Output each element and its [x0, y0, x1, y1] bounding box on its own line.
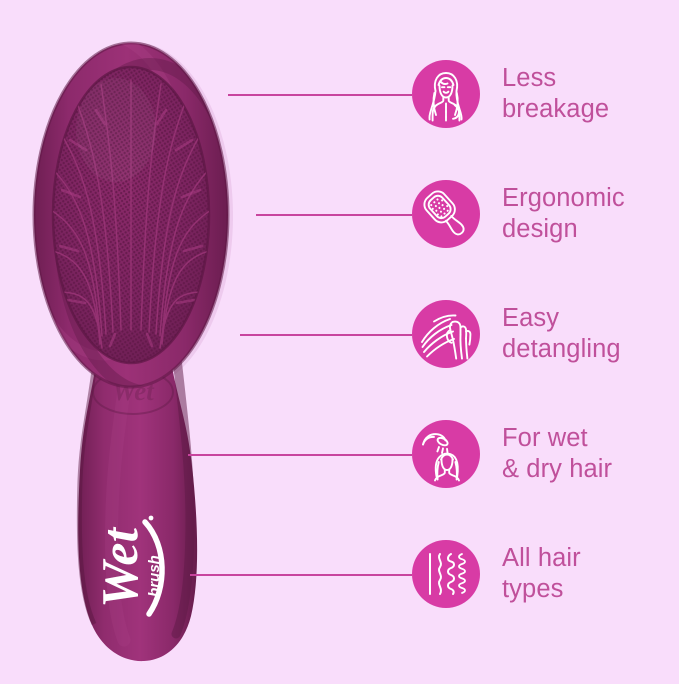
product-image-hair-brush: Wet: [0, 0, 260, 679]
paddle-brush-icon: [412, 180, 480, 248]
shower-head-girl-icon: [412, 420, 480, 488]
connector-line-less-breakage: [228, 94, 412, 96]
feature-label-less-breakage: Less breakage: [502, 63, 609, 125]
brand-registered-mark: [149, 516, 154, 521]
hair-texture-strands-icon: [412, 540, 480, 608]
infographic-canvas: Wet: [0, 0, 679, 679]
connector-line-easy-detangling: [240, 334, 412, 336]
feature-label-for-wet-and-dry-hair: For wet & dry hair: [502, 423, 612, 485]
connector-line-ergonomic-design: [256, 214, 412, 216]
feature-label-easy-detangling: Easy detangling: [502, 303, 621, 365]
girl-long-hair-icon: [412, 60, 480, 128]
feature-ergonomic-design[interactable]: Ergonomic design: [412, 180, 625, 248]
feature-icon-badge-ergonomic-design: [412, 180, 480, 248]
feature-label-ergonomic-design: Ergonomic design: [502, 183, 625, 245]
feature-label-all-hair-types: All hair types: [502, 543, 581, 605]
brush-illustration: Wet: [0, 0, 260, 679]
brand-logo-subtext: brush: [146, 555, 163, 597]
feature-easy-detangling[interactable]: Easy detangling: [412, 300, 621, 368]
feature-less-breakage[interactable]: Less breakage: [412, 60, 609, 128]
feature-for-wet-and-dry-hair[interactable]: For wet & dry hair: [412, 420, 612, 488]
feature-all-hair-types[interactable]: All hair types: [412, 540, 581, 608]
hand-hair-strands-icon: [412, 300, 480, 368]
feature-icon-badge-all-hair-types: [412, 540, 480, 608]
brand-logo-text: Wet: [92, 526, 149, 607]
connector-line-all-hair-types: [190, 574, 412, 576]
feature-icon-badge-less-breakage: [412, 60, 480, 128]
feature-icon-badge-for-wet-and-dry-hair: [412, 420, 480, 488]
feature-icon-badge-easy-detangling: [412, 300, 480, 368]
connector-line-for-wet-and-dry-hair: [188, 454, 412, 456]
